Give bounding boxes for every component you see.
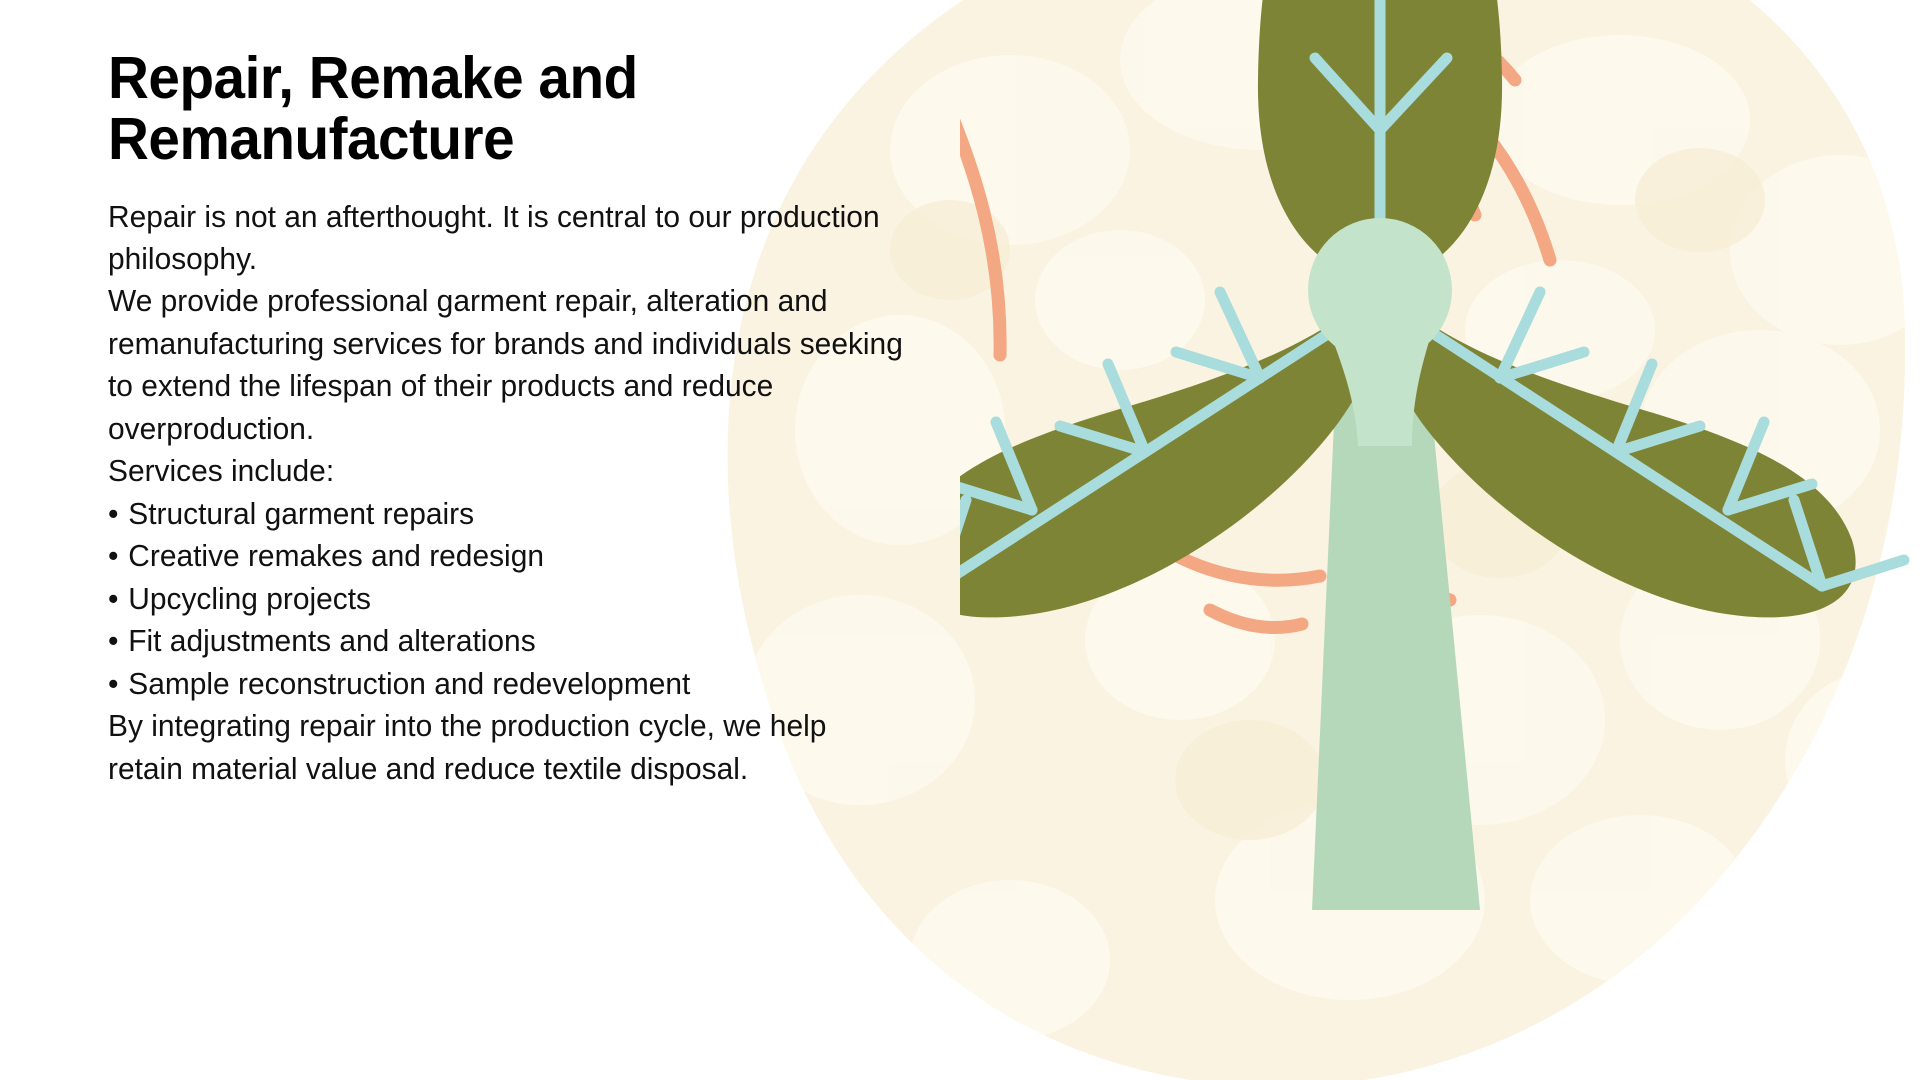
list-item: •Upcycling projects	[108, 578, 909, 620]
vein-left-1-up	[1220, 292, 1260, 378]
bullet-dot-icon: •	[108, 620, 128, 662]
bullet-dot-icon: •	[108, 535, 128, 577]
text-column: Repair, Remake and Remanufacture Repair …	[108, 48, 968, 790]
motion-arc-right-inner	[1410, 130, 1475, 215]
turbine-tower	[1312, 290, 1480, 910]
motion-arc-right-outer	[1390, 55, 1550, 260]
list-item: •Sample reconstruction and redevelopment	[108, 663, 909, 705]
wind-motion-arcs	[960, 20, 1550, 628]
list-item-label: Upcycling projects	[128, 581, 371, 616]
vein-right-1-up	[1500, 292, 1540, 378]
vein-left-2-down	[1060, 426, 1145, 452]
bullet-dot-icon: •	[108, 578, 128, 620]
vein-stem-left	[960, 304, 1374, 586]
vein-left-2-up	[1108, 364, 1145, 452]
paragraph-intro: Repair is not an afterthought. It is cen…	[108, 196, 909, 281]
vein-top-2-right	[1380, 58, 1447, 130]
vein-right-3-up	[1728, 422, 1764, 510]
list-item: •Fit adjustments and alterations	[108, 620, 909, 662]
list-item-label: Fit adjustments and alterations	[128, 623, 535, 658]
motion-arc-bottom-right	[1380, 560, 1450, 600]
turbine-hub	[1308, 218, 1452, 362]
motion-arc-bottom-left	[1150, 540, 1320, 580]
leaf-blade-top	[1258, 0, 1502, 285]
vein-left-3-up	[996, 422, 1032, 510]
slide-canvas: Repair, Remake and Remanufacture Repair …	[0, 0, 1920, 1080]
wind-turbine-leaf-illustration	[960, 0, 1920, 1080]
list-item-label: Sample reconstruction and redevelopment	[128, 666, 690, 701]
list-item-label: Creative remakes and redesign	[128, 538, 544, 573]
turbine-hub-neck	[1332, 338, 1430, 446]
motion-arc-bottom-small	[1210, 610, 1302, 628]
vein-right-3-down	[1728, 484, 1812, 510]
list-item: •Structural garment repairs	[108, 493, 909, 535]
vein-right-tip-up	[1794, 500, 1822, 586]
vein-right-1-down	[1500, 352, 1584, 378]
bullet-dot-icon: •	[108, 663, 128, 705]
page-title: Repair, Remake and Remanufacture	[108, 48, 818, 170]
paragraph-closing: By integrating repair into the productio…	[108, 705, 909, 790]
vein-right-tip-down	[1822, 560, 1904, 586]
vein-left-1-down	[1176, 352, 1260, 378]
vein-right-2-up	[1616, 364, 1652, 452]
paragraph-services-lead-in: Services include:	[108, 450, 909, 492]
body-content: Repair is not an afterthought. It is cen…	[108, 196, 909, 791]
backdrop-dapples-darker	[890, 125, 1765, 840]
list-item-label: Structural garment repairs	[128, 496, 474, 531]
vein-stem-right	[1388, 304, 1822, 586]
paragraph-services-description: We provide professional garment repair, …	[108, 280, 909, 450]
bullet-dot-icon: •	[108, 493, 128, 535]
leaf-blade-right	[1383, 290, 1904, 617]
vein-right-2-down	[1616, 426, 1700, 452]
services-bullet-list: •Structural garment repairs •Creative re…	[108, 493, 909, 705]
vein-top-2-left	[1315, 58, 1380, 130]
list-item: •Creative remakes and redesign	[108, 535, 909, 577]
motion-arc-right-short	[1440, 20, 1515, 80]
vein-left-3-down	[960, 484, 1032, 510]
leaf-blade-left	[960, 290, 1379, 617]
